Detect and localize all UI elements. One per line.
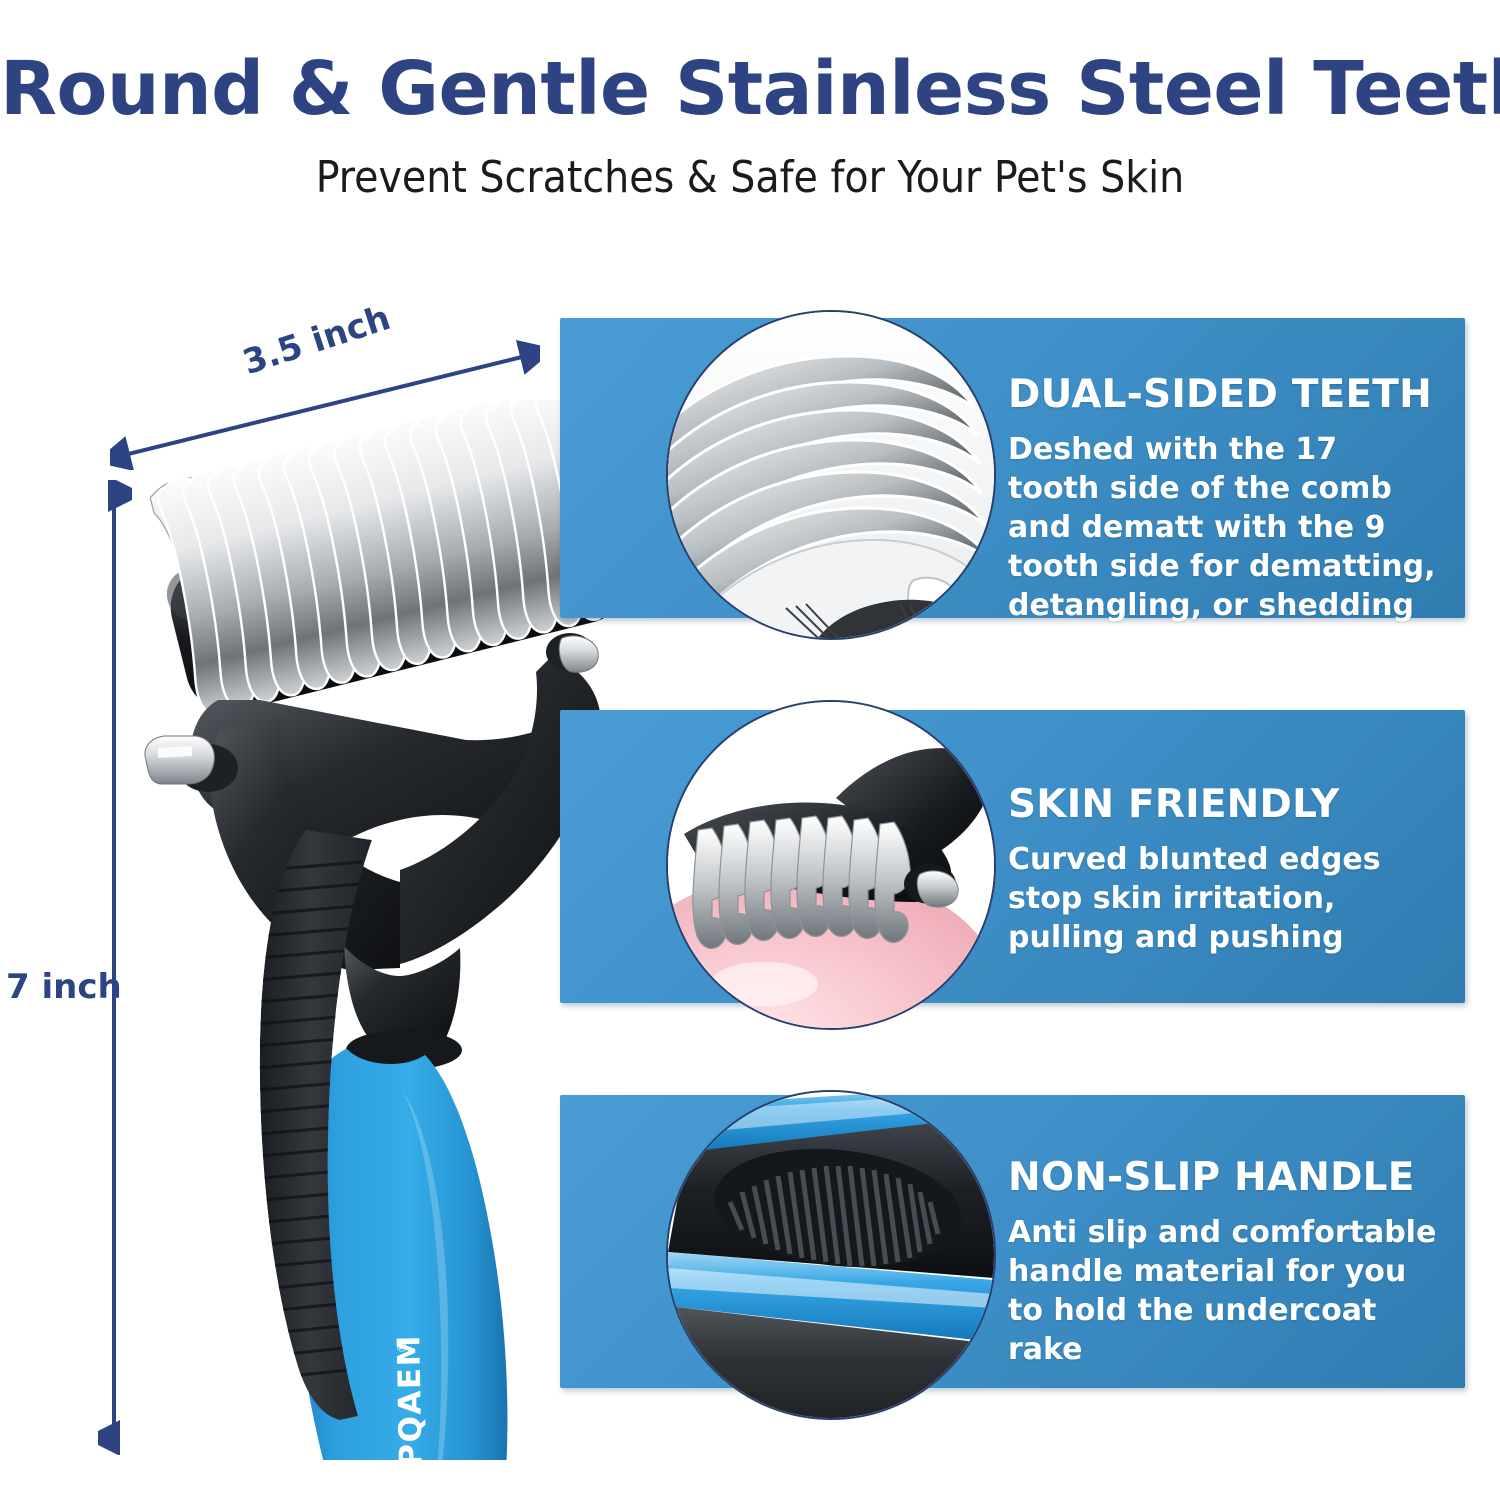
comb-teeth-closeup-image <box>666 310 996 640</box>
feature-body: Deshed with the 17 tooth side of the com… <box>1008 430 1437 625</box>
comb-on-pink-skin-image <box>666 700 996 1030</box>
feature-title: SKIN FRIENDLY <box>1008 782 1437 827</box>
handle-grip-closeup-image <box>666 1090 996 1420</box>
feature-title: DUAL-SIDED TEETH <box>1008 372 1437 417</box>
feature-body: Curved blunted edges stop skin irritatio… <box>1008 840 1437 957</box>
registered-mark: ® <box>395 1340 410 1353</box>
feature-title: NON-SLIP HANDLE <box>1008 1155 1437 1200</box>
page-subtitle: Prevent Scratches & Safe for Your Pet's … <box>0 152 1500 203</box>
infographic-page: Round & Gentle Stainless Steel Teeth Pre… <box>0 0 1500 1500</box>
feature-body: Anti slip and comfortable handle materia… <box>1008 1213 1437 1369</box>
page-title: Round & Gentle Stainless Steel Teeth <box>0 46 1500 132</box>
